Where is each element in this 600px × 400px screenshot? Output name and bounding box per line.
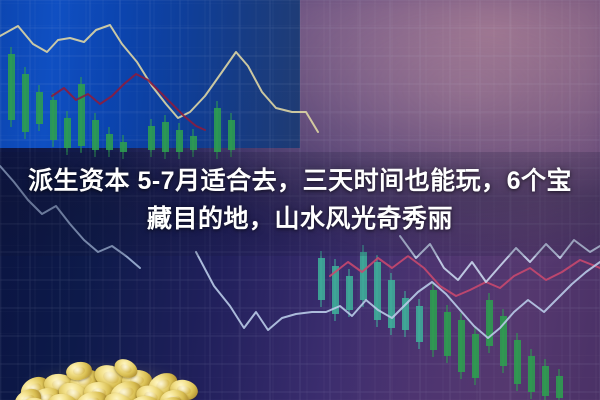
trendline-ice-zigzag-bottom-left [196,252,600,338]
headline-text: 派生资本 5-7月适合去，三天时间也能玩，6个宝藏目的地，山水风光奇秀丽 [0,162,600,238]
gold-coin-pile [14,344,204,400]
trendline-pink-trend-right [330,256,600,296]
banner-image: 派生资本 5-7月适合去，三天时间也能玩，6个宝藏目的地，山水风光奇秀丽 [0,0,600,400]
trendline-red-trend-upper-left [52,74,205,130]
